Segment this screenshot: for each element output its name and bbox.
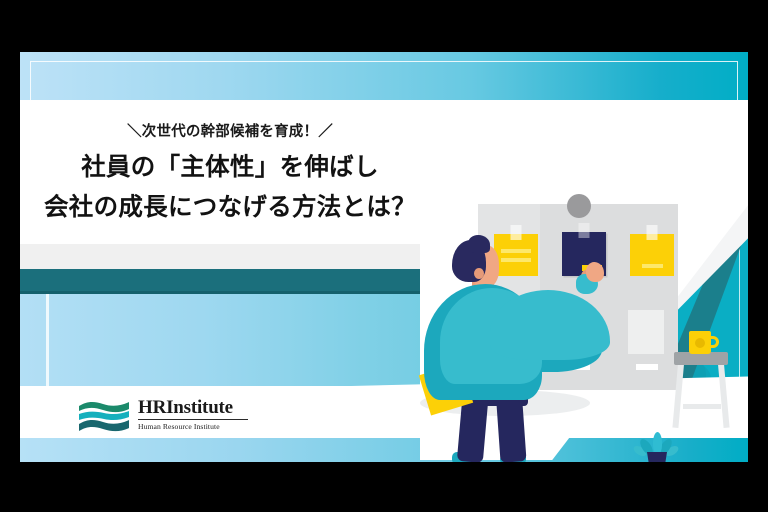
page-title-line-1: 社員の「主体性」を伸ばし (20, 148, 440, 183)
note-text-line (642, 264, 663, 268)
plant-leaf (653, 432, 662, 454)
tape-piece (579, 223, 590, 238)
person-hand-right (586, 262, 604, 282)
person-hair-tuft (468, 235, 490, 253)
tape-piece (511, 225, 522, 240)
sticky-note-yellow-left (494, 234, 538, 276)
brand-logo[interactable]: HRInstitute Human Resource Institute (78, 396, 250, 438)
mug-detail (695, 338, 705, 348)
stripe-inner-white-line (46, 294, 49, 386)
note-text-line (501, 258, 531, 262)
logo-wordmark: HRInstitute Human Resource Institute (138, 398, 250, 431)
stool-rung (683, 404, 721, 409)
whiteboard-knob-icon (567, 194, 591, 218)
page-title-line-2: 会社の成長につなげる方法とは？ (20, 188, 440, 223)
logo-name-text: HRInstitute (138, 398, 250, 418)
tape-piece (647, 225, 658, 240)
person-ear (474, 268, 484, 279)
logo-subtitle-text: Human Resource Institute (138, 422, 250, 431)
whiteboard-label-bar (636, 364, 658, 370)
banner-artboard: ＼次世代の幹部候補を育成！／ 社員の「主体性」を伸ばし 会社の成長につなげる方法… (20, 52, 748, 462)
logo-divider (138, 419, 248, 420)
note-text-line (501, 249, 531, 253)
sticky-note-yellow-right (630, 234, 674, 276)
whiteboard-card (628, 310, 664, 354)
hr-institute-wave-mark-icon (78, 400, 130, 434)
plant-pot (647, 452, 667, 462)
kicker-text: ＼次世代の幹部候補を育成！／ (20, 120, 440, 141)
screenshot-canvas: ＼次世代の幹部候補を育成！／ 社員の「主体性」を伸ばし 会社の成長につなげる方法… (0, 0, 768, 512)
